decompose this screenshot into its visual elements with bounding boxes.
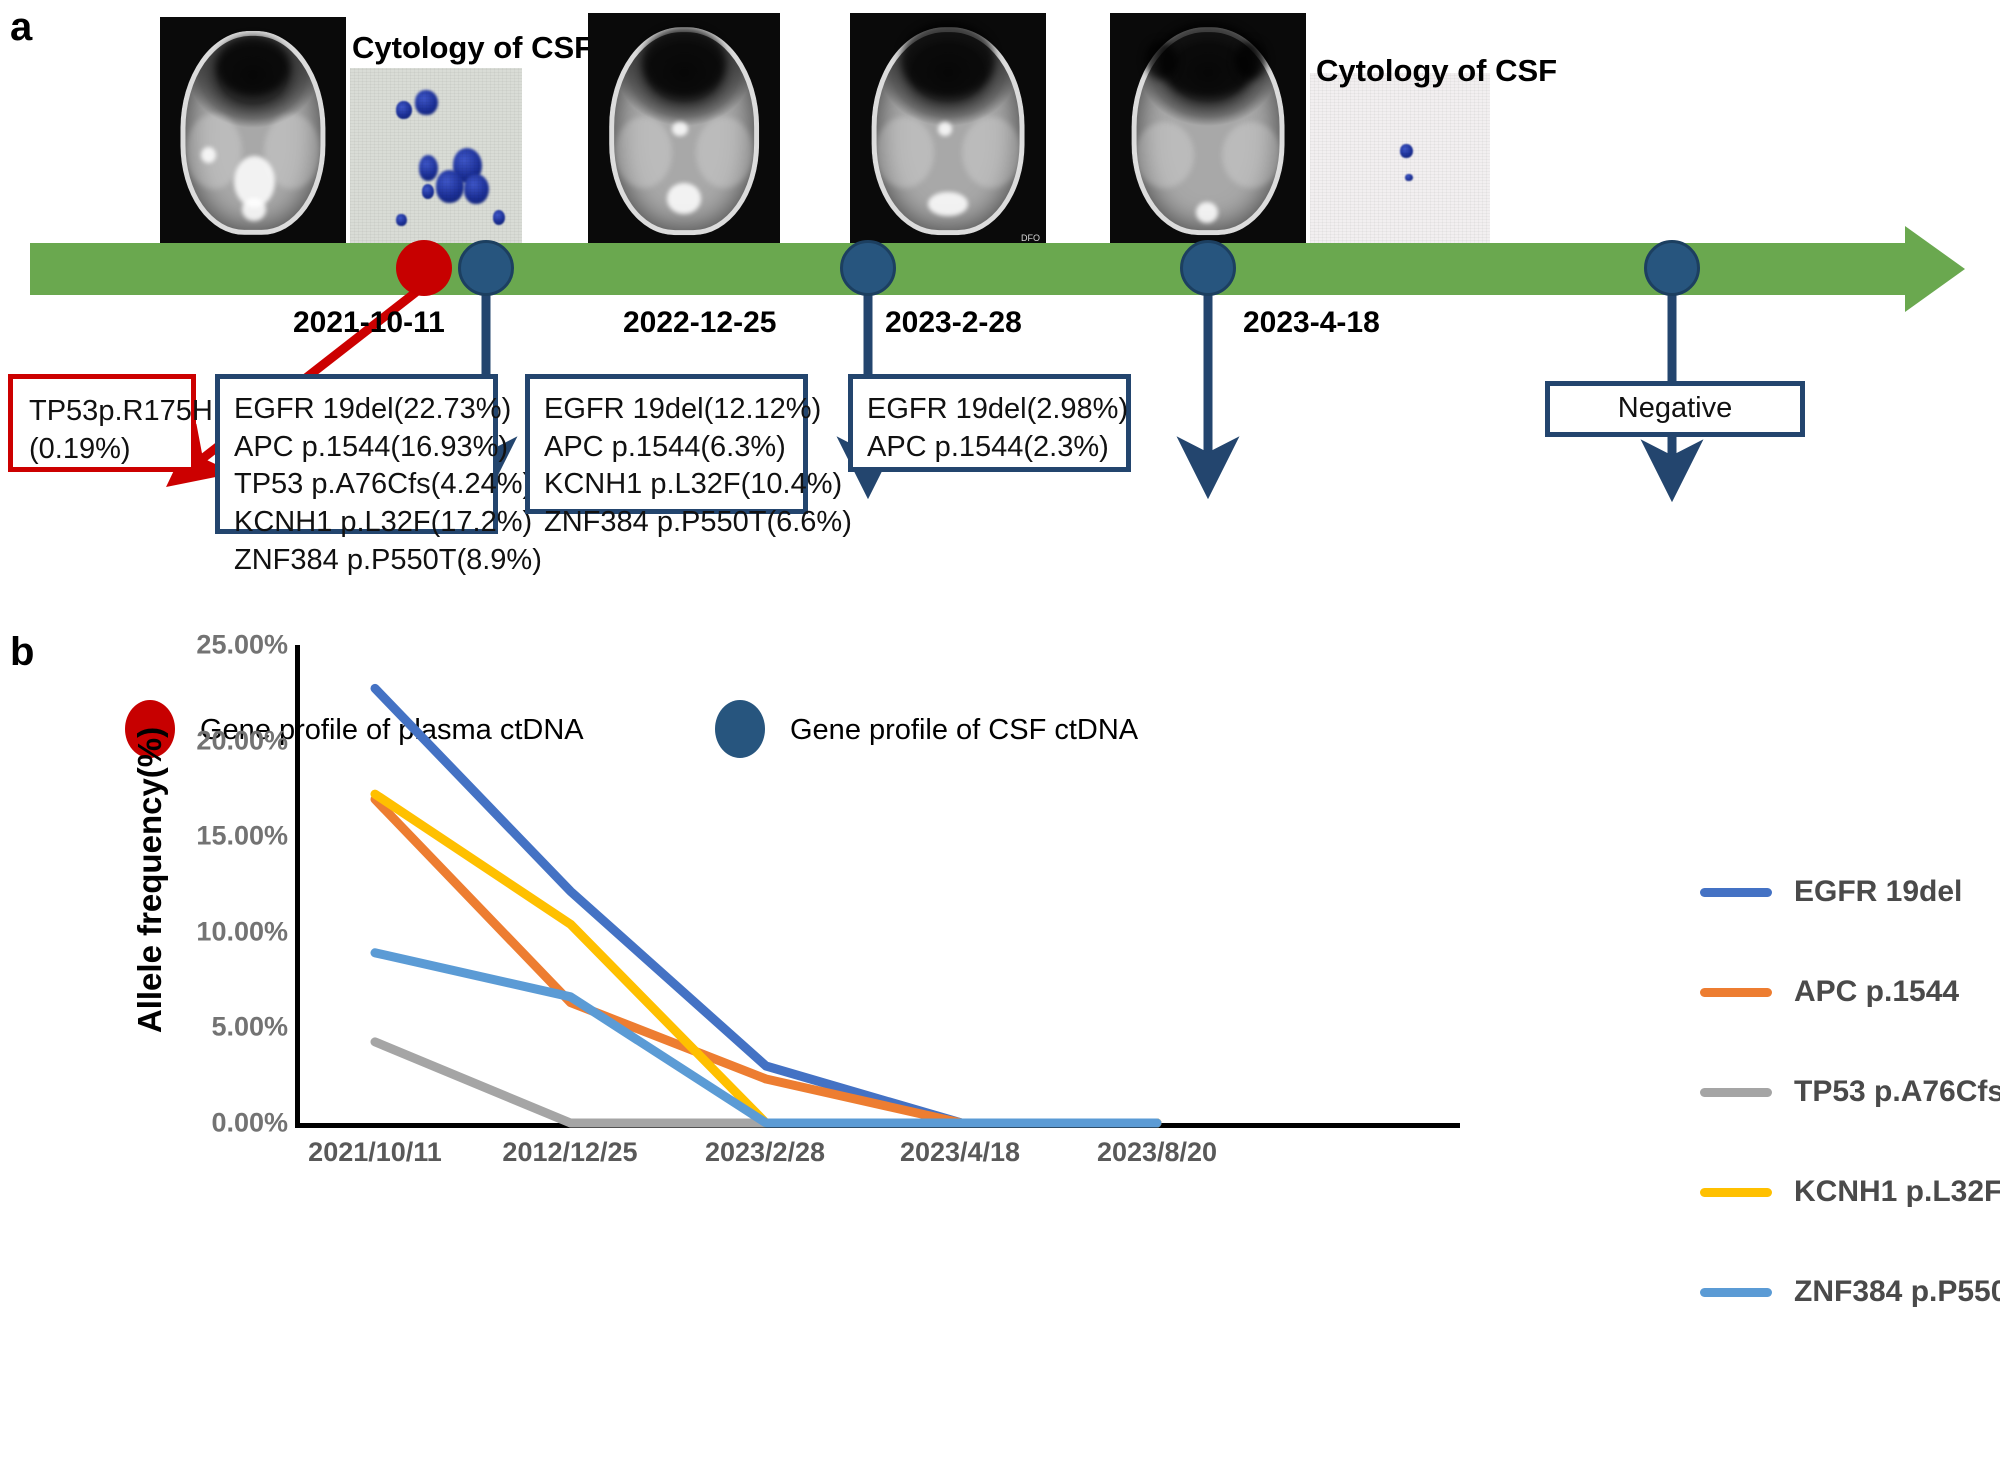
timeline-node-csf-1[interactable] (458, 240, 514, 296)
gene-line: EGFR 19del(12.12%) (544, 391, 789, 429)
series-line-4 (375, 953, 1157, 1123)
gene-line: TP53 p.A76Cfs(4.24%) (234, 466, 479, 504)
cytology-image-1 (350, 68, 522, 250)
y-tick-5: 25.00% (196, 630, 288, 661)
legend-swatch-icon (1700, 1188, 1772, 1197)
plasma-gene-percent: (0.19%) (29, 431, 175, 469)
timeline-node-csf-3[interactable] (1180, 240, 1236, 296)
series-line-1 (375, 799, 1157, 1123)
y-tick-1: 5.00% (211, 1012, 288, 1043)
gene-line: APC p.1544(6.3%) (544, 429, 789, 467)
gene-line: ZNF384 p.P550T(8.9%) (234, 542, 479, 580)
gene-line: KCNH1 p.L32F(17.2%) (234, 504, 479, 542)
y-tick-3: 15.00% (196, 821, 288, 852)
legend-item-label: TP53 p.A76Cfs (1794, 1075, 2000, 1109)
mri-image-3: DFO (850, 13, 1046, 249)
csf-gene-box-2: EGFR 19del(12.12%) APC p.1544(6.3%) KCNH… (525, 374, 808, 514)
x-tick-4: 2023/8/20 (1097, 1137, 1217, 1168)
gene-line: EGFR 19del(22.73%) (234, 391, 479, 429)
csf-gene-box-4: Negative (1545, 381, 1805, 437)
legend-item-3[interactable]: KCNH1 p.L32F (1700, 1175, 2000, 1209)
timeline-node-plasma[interactable] (396, 240, 452, 296)
legend-item-1[interactable]: APC p.1544 (1700, 975, 1959, 1009)
mri-image-4 (1110, 13, 1306, 249)
x-tick-1: 2012/12/25 (502, 1137, 637, 1168)
legend-swatch-icon (1700, 1288, 1772, 1297)
csf-gene-box-1: EGFR 19del(22.73%) APC p.1544(16.93%) TP… (215, 374, 498, 534)
line-chart-plot-area: 0.00% 5.00% 10.00% 15.00% 20.00% 25.00% … (295, 645, 1460, 1125)
timeline-date-2: 2022-12-25 (623, 306, 776, 340)
legend-item-label: KCNH1 p.L32F (1794, 1175, 2000, 1209)
x-tick-3: 2023/4/18 (900, 1137, 1020, 1168)
legend-swatch-icon (1700, 888, 1772, 897)
cytology-image-2 (1310, 73, 1490, 250)
series-line-0 (375, 688, 1157, 1123)
x-tick-2: 2023/2/28 (705, 1137, 825, 1168)
panel-b-chart: b Allele frequency(%) 0.00% 5.00% 10.00%… (0, 630, 2000, 1465)
legend-item-label: ZNF384 p.P550T (1794, 1275, 2000, 1309)
panel-b-letter: b (10, 630, 34, 675)
timeline-arrowhead (1905, 226, 1965, 312)
gene-line: ZNF384 p.P550T(6.6%) (544, 504, 789, 542)
legend-swatch-icon (1700, 1088, 1772, 1097)
timeline-date-3: 2023-2-28 (885, 306, 1022, 340)
y-axis-label: Allele frequency(%) (131, 727, 169, 1033)
timeline-node-csf-2[interactable] (840, 240, 896, 296)
gene-line: APC p.1544(16.93%) (234, 429, 479, 467)
plasma-gene-box: TP53p.R175H (0.19%) (8, 374, 196, 472)
timeline-node-csf-4[interactable] (1644, 240, 1700, 296)
csf-gene-box-3: EGFR 19del(2.98%) APC p.1544(2.3%) (848, 374, 1131, 472)
legend-item-label: APC p.1544 (1794, 975, 1959, 1009)
chart-series-lines (295, 645, 1460, 1128)
plasma-gene-line: TP53p.R175H (29, 393, 175, 431)
mri-image-2 (588, 13, 780, 249)
gene-line: Negative (1618, 390, 1732, 428)
y-tick-4: 20.00% (196, 725, 288, 756)
cytology-title-left: Cytology of CSF (352, 30, 593, 66)
cytology-title-right: Cytology of CSF (1316, 53, 1557, 89)
legend-swatch-icon (1700, 988, 1772, 997)
timeline-date-4: 2023-4-18 (1243, 306, 1380, 340)
y-tick-2: 10.00% (196, 916, 288, 947)
legend-item-label: EGFR 19del (1794, 875, 1962, 909)
series-line-3 (375, 794, 1157, 1123)
panel-a-letter: a (10, 5, 32, 50)
timeline-date-1: 2021-10-11 (293, 306, 445, 340)
timeline-bar (30, 243, 1910, 295)
gene-line: APC p.1544(2.3%) (867, 429, 1112, 467)
legend-item-4[interactable]: ZNF384 p.P550T (1700, 1275, 2000, 1309)
legend-item-2[interactable]: TP53 p.A76Cfs (1700, 1075, 2000, 1109)
gene-line: EGFR 19del(2.98%) (867, 391, 1112, 429)
mri-image-1 (160, 17, 346, 249)
x-tick-0: 2021/10/11 (308, 1137, 442, 1168)
gene-line: KCNH1 p.L32F(10.4%) (544, 466, 789, 504)
legend-item-0[interactable]: EGFR 19del (1700, 875, 1962, 909)
y-tick-0: 0.00% (211, 1108, 288, 1139)
